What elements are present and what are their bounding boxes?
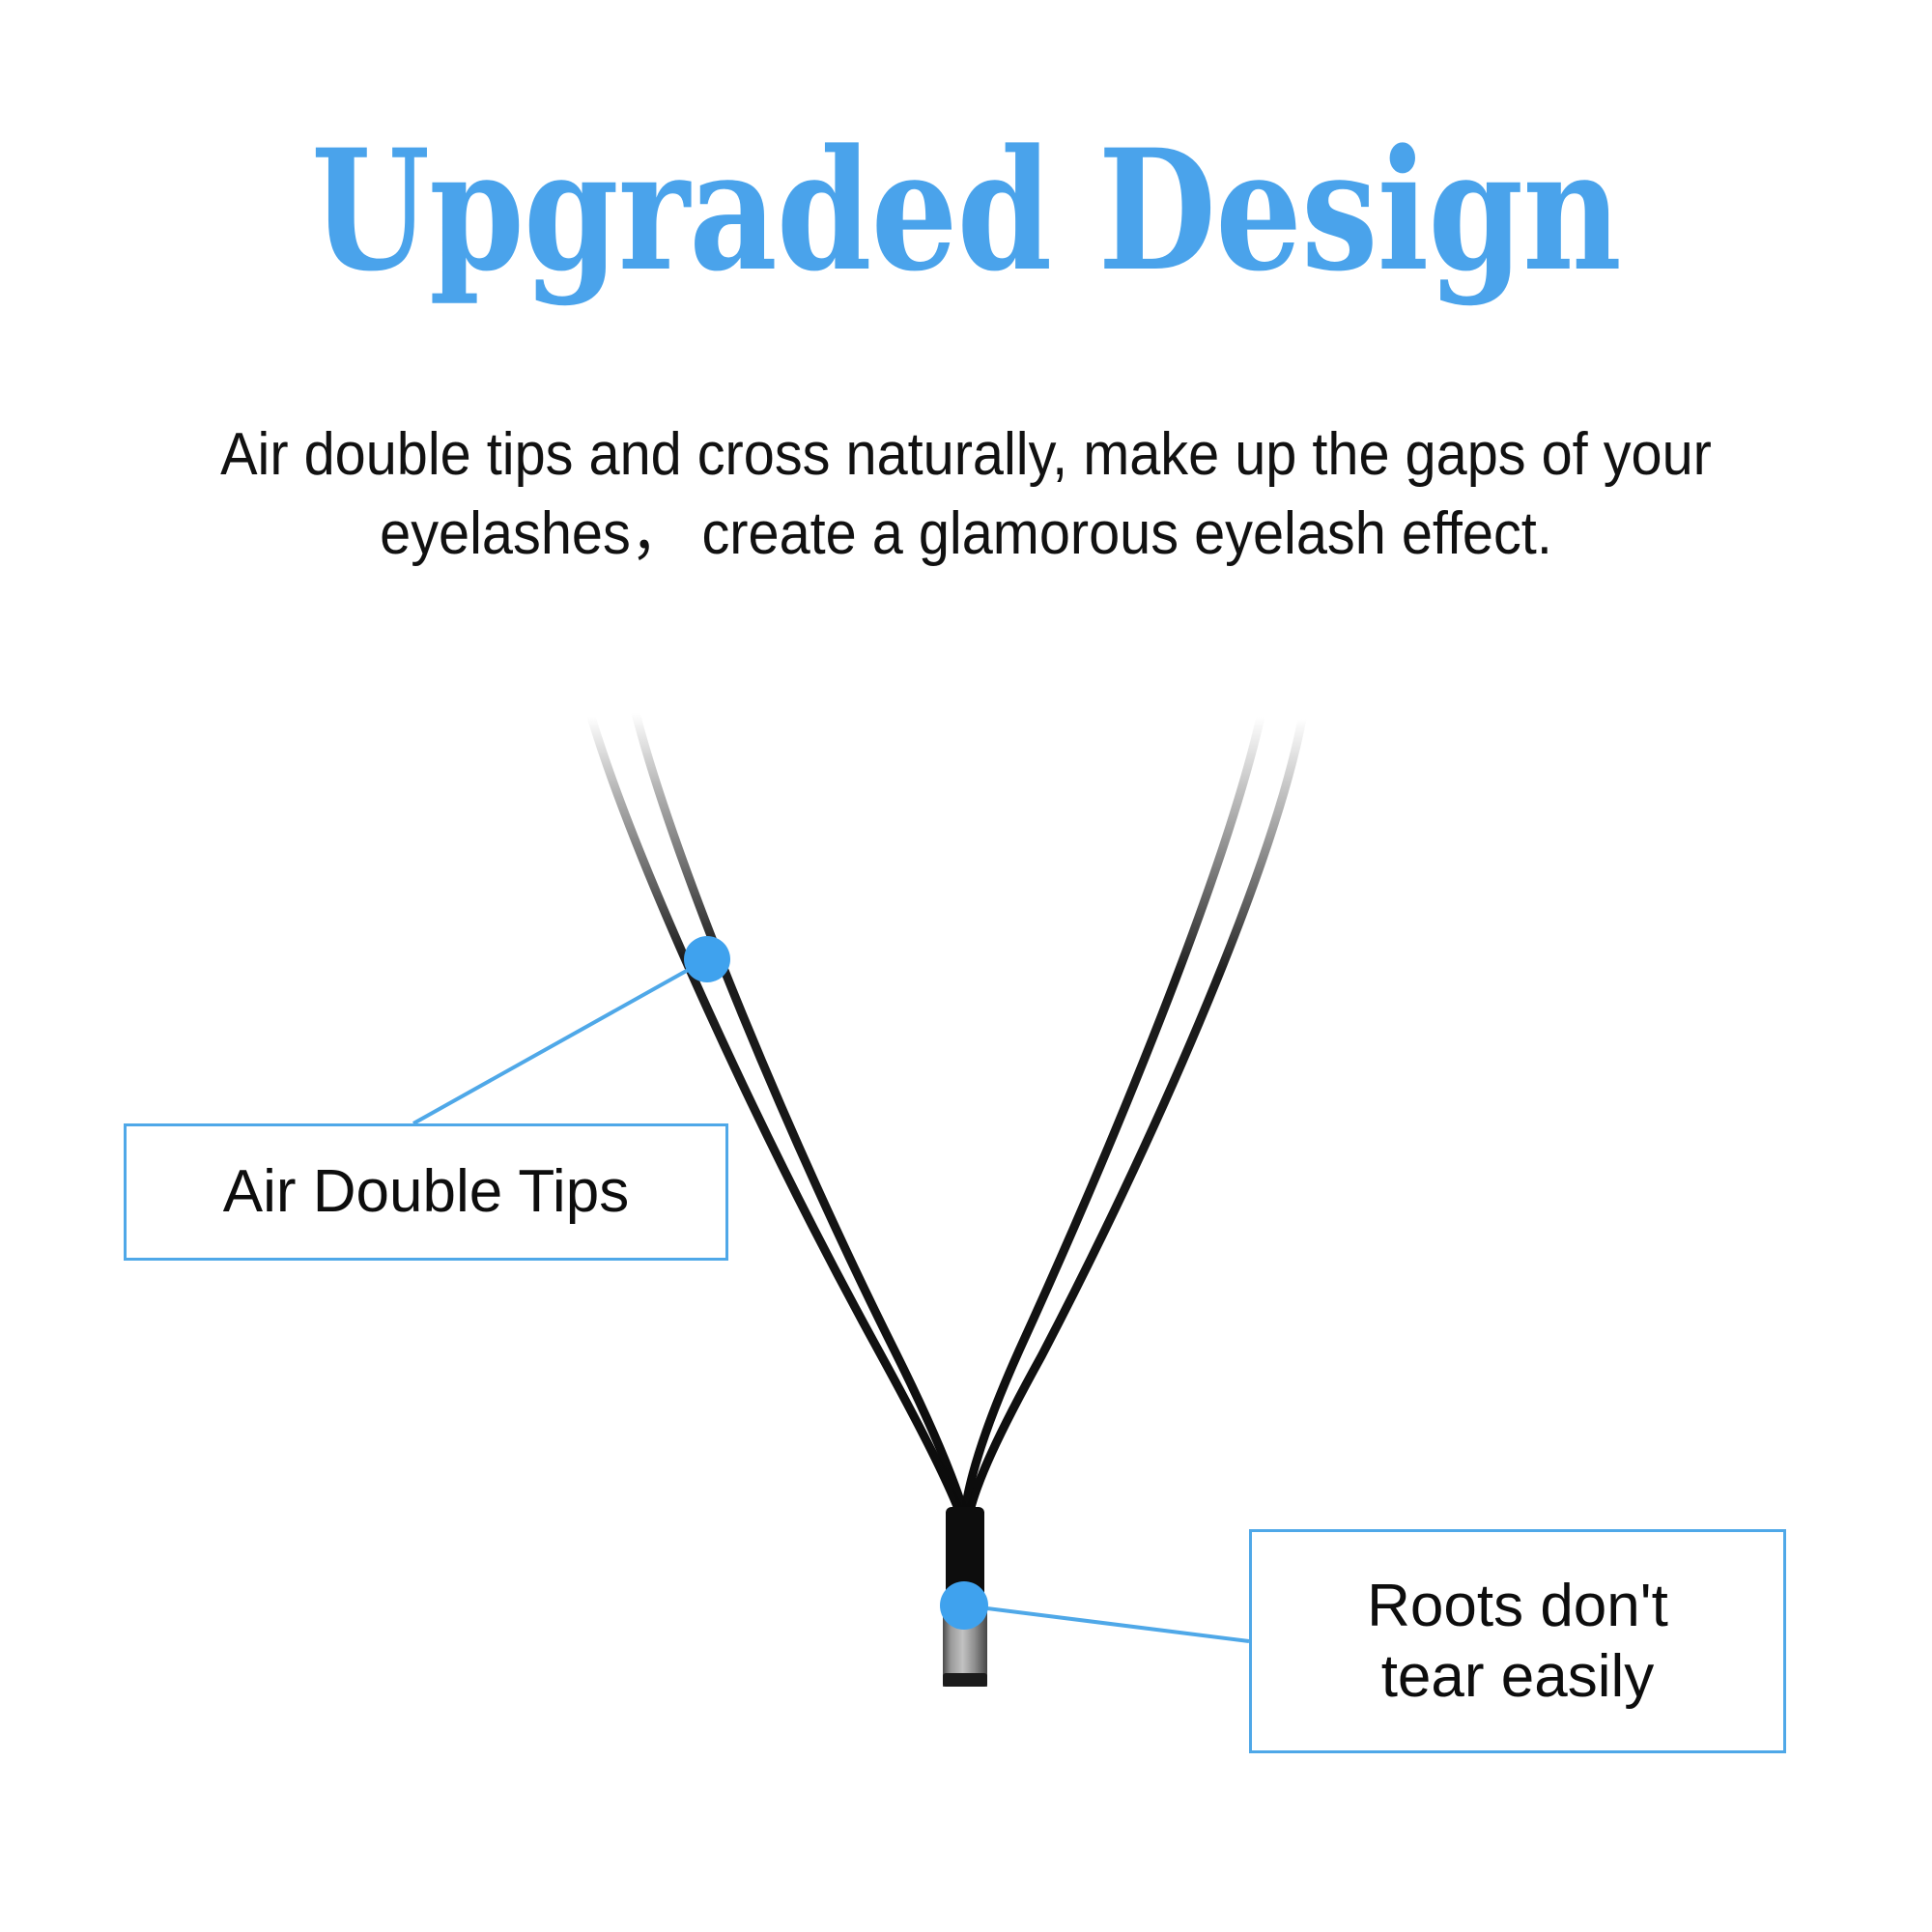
infographic-page: Upgraded Design Air double tips and cros… [0, 0, 1932, 1932]
callout-roots-label-wrap: Roots don't tear easily [1367, 1571, 1668, 1712]
lash-shaft-block [946, 1507, 984, 1633]
lash-fiber-right-outer [968, 719, 1302, 1520]
callout-air-double-tips[interactable]: Air Double Tips [124, 1123, 728, 1261]
lash-root-base [943, 1611, 987, 1687]
lash-fiber-right-inner [964, 717, 1261, 1519]
callout-roots-label-line-1: Roots don't [1367, 1571, 1668, 1641]
subtitle-line-2: eyelashes， create a glamorous eyelash ef… [157, 495, 1775, 574]
roots-marker-dot[interactable] [940, 1581, 988, 1630]
subtitle-line-1: Air double tips and cross naturally, mak… [157, 415, 1775, 495]
callout-roots-dont-tear-easily[interactable]: Roots don't tear easily [1249, 1529, 1786, 1753]
left-connector-line [413, 959, 707, 1123]
air-double-tips-marker-dot[interactable] [684, 936, 730, 982]
page-title: Upgraded Design [174, 128, 1758, 294]
lash-fiber-left-inner [636, 713, 966, 1519]
lash-fiber-left-outer [591, 717, 962, 1519]
callout-air-double-tips-label: Air Double Tips [223, 1160, 629, 1223]
right-connector-line [964, 1605, 1249, 1641]
lash-root-tip [943, 1673, 987, 1687]
callout-roots-label-line-2: tear easily [1367, 1641, 1668, 1712]
lash-shaft-merged [956, 1513, 974, 1633]
subtitle: Air double tips and cross naturally, mak… [97, 415, 1835, 574]
